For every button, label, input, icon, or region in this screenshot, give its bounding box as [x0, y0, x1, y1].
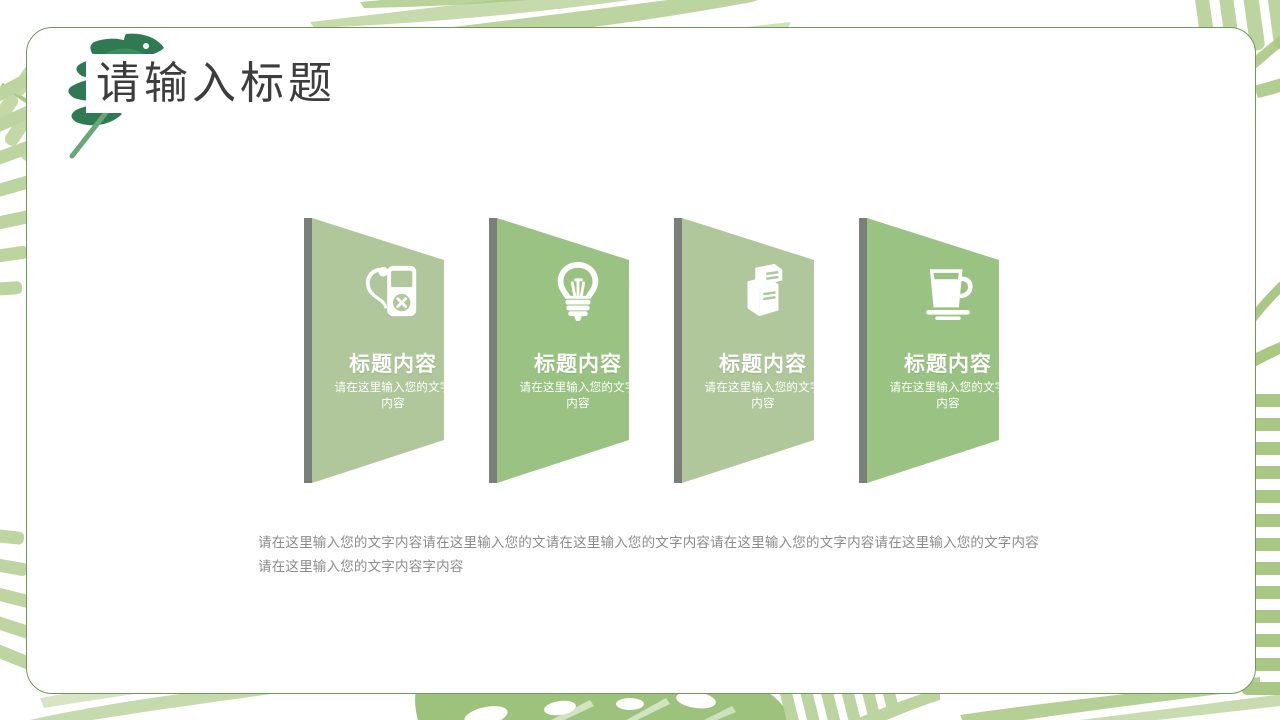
panel-heading-2: 标题内容: [534, 352, 622, 376]
title-block: 请输入标题: [36, 28, 344, 138]
panel-heading-4: 标题内容: [904, 352, 992, 376]
panel-description-4: 请在这里输入您的文字内容: [889, 381, 1007, 412]
panel-heading-3: 标题内容: [719, 352, 807, 376]
panel-description-1: 请在这里输入您的文字内容: [329, 381, 457, 412]
page-title: 请输入标题: [86, 54, 344, 113]
usb-drive-icon: [734, 260, 792, 322]
panel-description-3: 请在这里输入您的文字内容: [699, 381, 827, 412]
body-paragraph: 请在这里输入您的文字内容请在这里输入您的文请在这里输入您的文字内容请在这里输入您…: [258, 531, 1040, 578]
game-console-icon: [364, 260, 422, 322]
panel-content-2: 标题内容 请在这里输入您的文字内容: [503, 208, 653, 493]
panel-description-2: 请在这里输入您的文字内容: [514, 381, 642, 412]
lightbulb-icon: [549, 260, 607, 322]
panel-card-1[interactable]: 标题内容 请在这里输入您的文字内容: [300, 208, 500, 493]
panel-heading-1: 标题内容: [349, 352, 437, 376]
panel-card-3[interactable]: 标题内容 请在这里输入您的文字内容: [670, 208, 870, 493]
panel-content-4: 标题内容 请在这里输入您的文字内容: [873, 208, 1023, 493]
slide-canvas: 请输入标题: [0, 0, 1280, 720]
panels-row: 标题内容 请在这里输入您的文字内容: [0, 208, 1280, 493]
panel-card-2[interactable]: 标题内容 请在这里输入您的文字内容: [485, 208, 685, 493]
panel-card-4[interactable]: 标题内容 请在这里输入您的文字内容: [855, 208, 1055, 493]
coffee-cup-icon: [919, 260, 977, 322]
panel-content-1: 标题内容 请在这里输入您的文字内容: [318, 208, 468, 493]
panel-content-3: 标题内容 请在这里输入您的文字内容: [688, 208, 838, 493]
